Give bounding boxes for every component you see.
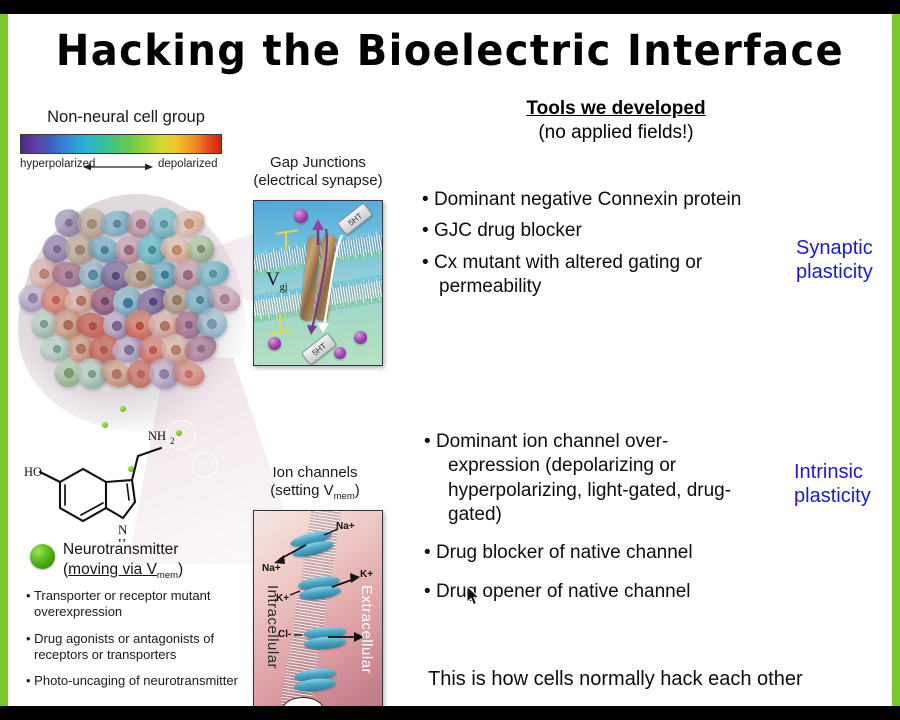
cell-nucleus (135, 271, 145, 281)
left-bullet-list: Transporter or receptor mutant overexpre… (24, 588, 259, 700)
closing-line: This is how cells normally hack each oth… (428, 668, 803, 691)
cell-nucleus (206, 317, 219, 330)
cell-nucleus (171, 344, 181, 354)
cell-nucleus (170, 295, 181, 306)
cell-nucleus (99, 345, 108, 354)
list-item: Drug agonists or antagonists of receptor… (24, 631, 259, 663)
neurotransmitter-dot-icon (30, 544, 55, 569)
list-item: Drug blocker of native channel (424, 541, 754, 565)
list-item: Photo-uncaging of neurotransmitter (24, 673, 259, 689)
cell-nucleus (195, 295, 205, 305)
paren-close: ) (355, 482, 360, 499)
gap-junction-diagram: 5HT 5HT Vgj (253, 200, 383, 366)
tools-heading: Tools we developed (406, 98, 826, 120)
gap-junction-caption-line2: (electrical synapse) (243, 172, 393, 190)
cell-nucleus (86, 218, 97, 229)
svg-text:HO: HO (24, 465, 42, 479)
ion-sphere (334, 347, 346, 359)
cell-nucleus (52, 344, 61, 353)
list-item: Transporter or receptor mutant overexpre… (24, 588, 259, 620)
cell-group-label: Non-neural cell group (26, 108, 226, 127)
cell-nucleus (122, 344, 134, 356)
cell-nucleus (74, 294, 87, 307)
ion-sphere (294, 209, 308, 223)
cell-nucleus (135, 320, 146, 331)
ion-label-na-in: Na+ (262, 563, 281, 574)
ion-channel-caption: Ion channels (setting Vmem) (240, 464, 390, 502)
list-item: GJC drug blocker (420, 219, 750, 243)
intrinsic-plasticity-line1: Intrinsic (794, 460, 892, 484)
voltage-colorbar (20, 134, 222, 154)
neurotransmitter-line1: Neurotransmitter (63, 540, 183, 560)
cell-nucleus (87, 369, 96, 378)
extracellular-label: Extracellular (358, 585, 375, 674)
gap-junction-caption-line1: Gap Junctions (243, 154, 393, 172)
cell-nucleus (63, 218, 74, 229)
cell-nucleus (159, 270, 170, 281)
cell-nucleus (160, 220, 168, 228)
cell-nucleus (170, 243, 182, 255)
cell-nucleus (110, 320, 121, 331)
list-item: Cx mutant with altered gating or permeab… (420, 251, 750, 300)
list-item: Dominant ion channel over-expression (de… (424, 430, 754, 527)
cell-nucleus (195, 343, 205, 353)
top-black-bar (0, 0, 900, 14)
svg-text:2: 2 (170, 436, 175, 446)
synaptic-plasticity-line2: plasticity (796, 260, 892, 284)
cell-nucleus (87, 320, 97, 330)
vgj-subscript: gj (280, 282, 288, 293)
ion-label-na-out: Na+ (336, 521, 355, 532)
moving-via-vmem-text: moving via V (68, 561, 157, 578)
ion-sphere (268, 337, 281, 350)
cell-nucleus (74, 243, 86, 255)
cell-nucleus (25, 292, 38, 305)
left-illustration-column: Non-neural cell group hyperpolarized dep… (8, 92, 398, 706)
neurotransmitter-legend-text: Neurotransmitter (moving via Vmem) (63, 540, 183, 582)
setting-vmem-text: (setting V (270, 482, 333, 499)
ion-channel-diagram: Na+ Na+ K+ K+ Cl- Intracellular Extracel… (253, 510, 383, 706)
cell-nucleus (40, 320, 48, 328)
svg-text:NH: NH (148, 429, 166, 443)
ion-channel-caption-line2: (setting Vmem) (240, 482, 390, 502)
intracellular-label: Intracellular (264, 585, 281, 669)
cell-nucleus (63, 270, 72, 279)
ion-sphere (354, 331, 367, 344)
ion-channel-caption-line1: Ion channels (240, 464, 390, 482)
cell-cluster-illustration (16, 184, 248, 434)
serotonin-molecule-icon: HO NH 2 N H (20, 412, 198, 542)
cell-nucleus (109, 367, 123, 381)
cell-nucleus (37, 267, 51, 281)
cell-nucleus (51, 244, 60, 253)
cell-nucleus (99, 296, 109, 306)
cell-nucleus (181, 217, 194, 230)
intrinsic-plasticity-tag: Intrinsic plasticity (794, 460, 892, 509)
tools-subheading: (no applied fields!) (406, 122, 826, 144)
cell-nucleus (61, 318, 74, 331)
synaptic-tools-list: Dominant negative Connexin protein GJC d… (420, 188, 750, 306)
polarity-arrow-icon (83, 162, 153, 172)
vmem-subscript: mem (157, 570, 178, 581)
cell-nucleus (147, 344, 158, 355)
slide-canvas: Hacking the Bioelectric Interface Non-ne… (8, 14, 892, 706)
cell-nucleus (99, 244, 110, 255)
slide-frame: Hacking the Bioelectric Interface Non-ne… (0, 0, 900, 720)
cell-nucleus (123, 245, 134, 256)
cell-nucleus (147, 245, 157, 255)
paren-close: ) (178, 561, 183, 578)
cell-nucleus (158, 367, 170, 379)
right-text-column: Tools we developed (no applied fields!) … (406, 92, 892, 706)
cell-nucleus (207, 269, 216, 278)
cell-nucleus (217, 292, 230, 305)
cell-nucleus (196, 244, 205, 253)
list-item: Dominant negative Connexin protein (420, 188, 750, 212)
gap-junction-caption: Gap Junctions (electrical synapse) (243, 154, 393, 189)
cell-nucleus (52, 295, 61, 304)
mouse-cursor-icon (467, 586, 481, 607)
cell-nucleus (111, 219, 121, 229)
ion-label-k-out: K+ (360, 569, 373, 580)
cell-nucleus (111, 271, 121, 281)
cell-nucleus (134, 217, 147, 230)
depolarized-label: depolarized (158, 158, 217, 170)
synaptic-plasticity-tag: Synaptic plasticity (796, 236, 892, 285)
intrinsic-plasticity-line2: plasticity (794, 484, 892, 508)
cell-nucleus (182, 269, 194, 281)
neurotransmitter-line2: (moving via Vmem) (63, 560, 183, 582)
cell-nucleus (159, 320, 170, 331)
bottom-black-bar (0, 706, 900, 720)
vgj-label: Vgj (266, 269, 288, 293)
cell-nucleus (123, 297, 134, 308)
synaptic-plasticity-line1: Synaptic (796, 236, 892, 260)
cell-nucleus (147, 296, 158, 307)
cell-nucleus (183, 368, 193, 378)
cell-nucleus (86, 269, 98, 281)
vgj-v: V (266, 269, 280, 290)
svg-text:N: N (118, 522, 128, 537)
cell-nucleus (73, 343, 86, 356)
cell-nucleus (136, 369, 145, 378)
page-title: Hacking the Bioelectric Interface (39, 26, 861, 76)
cell-nucleus (183, 320, 193, 330)
cell-nucleus (62, 367, 74, 379)
vmem-subscript: mem (334, 491, 355, 502)
